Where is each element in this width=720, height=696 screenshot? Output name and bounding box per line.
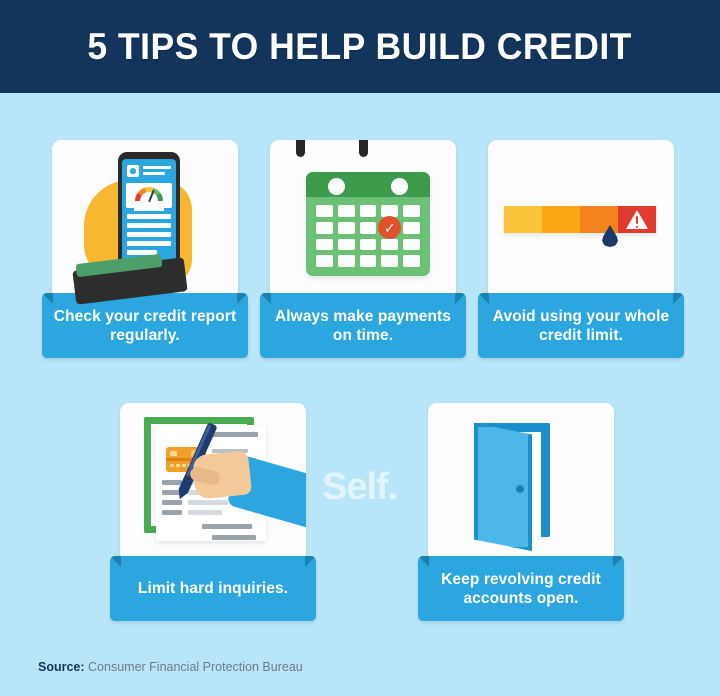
header-banner: 5 TIPS TO HELP BUILD CREDIT — [0, 0, 720, 93]
phone-screen — [122, 159, 176, 263]
source-value: Consumer Financial Protection Bureau — [88, 660, 303, 674]
tip-card-5-label: Keep revolving credit accounts open. — [418, 570, 624, 608]
utilization-bar — [504, 206, 656, 233]
tip-card-1: Check your credit report regularly. — [52, 140, 238, 370]
utilization-segment-4 — [618, 206, 656, 233]
text-line — [212, 432, 258, 437]
text-line — [127, 232, 171, 237]
text-line — [188, 500, 228, 505]
tip-card-2-illustration-panel: ✓ — [270, 140, 456, 305]
calendar-day — [381, 239, 398, 251]
tip-card-4-ribbon: Limit hard inquiries. — [110, 556, 316, 621]
ribbon-fold-left-icon — [478, 293, 489, 304]
calendar-checkmark-icon: ✓ — [270, 140, 456, 305]
text-line — [188, 510, 222, 515]
calendar-day — [403, 255, 420, 267]
calendar-ring-hole — [391, 178, 408, 195]
calendar-ring — [296, 140, 305, 157]
calendar-ring — [359, 140, 368, 157]
tip-card-2-label: Always make payments on time. — [260, 307, 466, 345]
calendar-day — [338, 222, 355, 234]
calendar-day — [338, 255, 355, 267]
tip-card-3-label: Avoid using your whole credit limit. — [478, 307, 684, 345]
ribbon-fold-right-icon — [305, 556, 316, 567]
text-line — [127, 223, 171, 228]
text-line — [212, 535, 256, 540]
door-knob-icon — [516, 485, 524, 493]
calendar-day — [403, 222, 420, 234]
calendar-day — [316, 205, 333, 217]
gauge-bottom-mask — [134, 201, 164, 211]
tip-card-2: ✓ — [270, 140, 456, 370]
open-door-icon — [428, 403, 614, 568]
infographic-root: 5 TIPS TO HELP BUILD CREDIT Self. — [0, 0, 720, 696]
source-attribution: Source: Consumer Financial Protection Bu… — [38, 660, 303, 674]
text-line — [202, 524, 252, 529]
page-title: 5 TIPS TO HELP BUILD CREDIT — [88, 26, 633, 68]
profile-avatar-icon — [127, 165, 139, 177]
phone-body — [118, 152, 180, 270]
gauge-arc — [135, 187, 163, 201]
checkmark-icon: ✓ — [378, 216, 401, 239]
tip-card-3: Avoid using your whole credit limit. — [488, 140, 674, 370]
calendar-day — [316, 222, 333, 234]
tip-card-3-ribbon: Avoid using your whole credit limit. — [478, 293, 684, 358]
calendar-day — [338, 205, 355, 217]
utilization-segment-1 — [504, 206, 542, 233]
tip-card-4-illustration-panel — [120, 403, 306, 568]
text-line — [162, 510, 182, 515]
phone-notch — [139, 153, 159, 157]
hand-holding-phone-credit-score-icon — [52, 140, 238, 305]
calendar-day-checked: ✓ — [381, 222, 398, 234]
credit-score-gauge — [126, 183, 172, 208]
tip-card-1-label: Check your credit report regularly. — [42, 307, 248, 345]
utilization-segment-2 — [542, 206, 580, 233]
ribbon-fold-left-icon — [418, 556, 429, 567]
tip-card-3-illustration-panel — [488, 140, 674, 305]
hand-signing-credit-application-icon — [120, 403, 306, 568]
ribbon-fold-right-icon — [455, 293, 466, 304]
tip-card-4: Limit hard inquiries. — [120, 403, 306, 633]
text-line — [127, 214, 171, 219]
calendar-day — [360, 222, 377, 234]
self-watermark: Self. — [322, 466, 397, 509]
calendar-day — [316, 239, 333, 251]
text-line — [127, 241, 171, 246]
calendar-day — [403, 239, 420, 251]
text-line — [162, 480, 182, 485]
calendar-body: ✓ — [306, 172, 430, 276]
calendar-day — [338, 239, 355, 251]
tip-card-1-ribbon: Check your credit report regularly. — [42, 293, 248, 358]
tip-card-5: Keep revolving credit accounts open. — [428, 403, 614, 633]
tip-card-2-ribbon: Always make payments on time. — [260, 293, 466, 358]
card-chip-icon — [170, 451, 177, 456]
source-label: Source: — [38, 660, 85, 674]
text-line — [143, 172, 165, 175]
calendar-day — [403, 205, 420, 217]
calendar-day — [316, 255, 333, 267]
calendar-ring-hole — [328, 178, 345, 195]
ribbon-fold-right-icon — [613, 556, 624, 567]
calendar-day — [381, 205, 398, 217]
ribbon-fold-left-icon — [42, 293, 53, 304]
text-line — [143, 166, 171, 169]
ribbon-fold-right-icon — [673, 293, 684, 304]
credit-utilization-bar-warning-icon — [488, 140, 674, 305]
text-line — [162, 500, 182, 505]
ribbon-fold-left-icon — [260, 293, 271, 304]
ribbon-fold-left-icon — [110, 556, 121, 567]
calendar-day — [360, 239, 377, 251]
tip-card-5-illustration-panel — [428, 403, 614, 568]
calendar-grid: ✓ — [316, 205, 420, 267]
calendar-day — [360, 255, 377, 267]
tip-card-5-ribbon: Keep revolving credit accounts open. — [418, 556, 624, 621]
ribbon-fold-right-icon — [237, 293, 248, 304]
calendar-day — [360, 205, 377, 217]
warning-exclamation-icon — [636, 216, 638, 224]
calendar-header — [306, 172, 430, 197]
tip-card-4-label: Limit hard inquiries. — [132, 579, 294, 598]
calendar-day — [381, 255, 398, 267]
tip-card-1-illustration-panel — [52, 140, 238, 305]
